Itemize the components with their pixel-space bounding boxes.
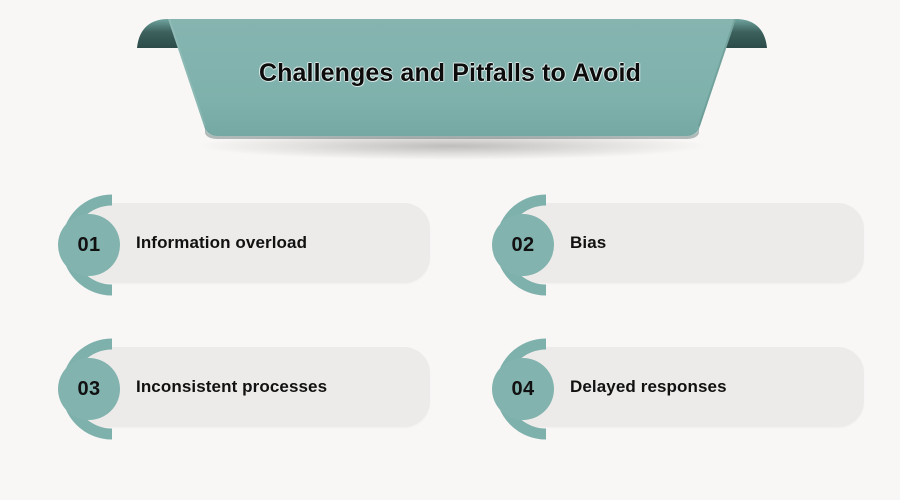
item-label: Delayed responses xyxy=(570,347,727,427)
list-item[interactable]: 04 Delayed responses xyxy=(464,330,864,448)
item-label: Bias xyxy=(570,203,606,283)
banner-region: Challenges and Pitfalls to Avoid xyxy=(0,0,900,170)
banner-title: Challenges and Pitfalls to Avoid xyxy=(0,59,900,88)
item-label: Information overload xyxy=(136,203,307,283)
item-number: 02 xyxy=(474,196,572,294)
item-row: 03 Inconsistent processes 04 Delayed res… xyxy=(0,330,900,474)
list-item[interactable]: 01 Information overload xyxy=(30,186,430,304)
items-grid: 01 Information overload 02 Bias xyxy=(0,186,900,474)
list-item[interactable]: 02 Bias xyxy=(464,186,864,304)
item-number: 01 xyxy=(40,196,138,294)
item-label: Inconsistent processes xyxy=(136,347,327,427)
list-item[interactable]: 03 Inconsistent processes xyxy=(30,330,430,448)
item-number: 03 xyxy=(40,340,138,438)
item-row: 01 Information overload 02 Bias xyxy=(0,186,900,330)
item-number: 04 xyxy=(474,340,572,438)
